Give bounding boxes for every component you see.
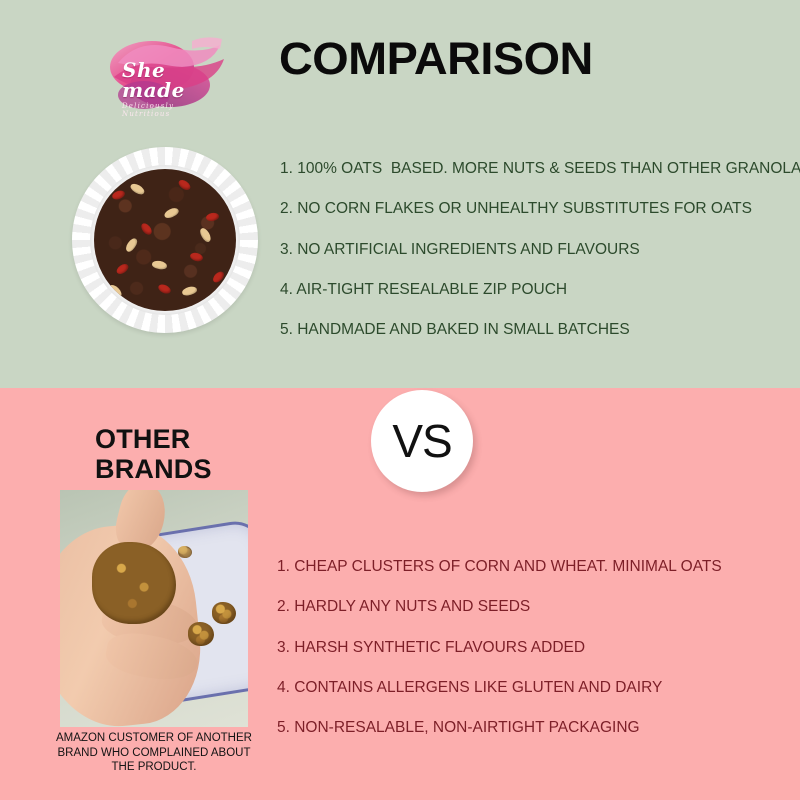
granola-cluster — [188, 622, 214, 646]
drawbacks-list: 1. CHEAP CLUSTERS OF CORN AND WHEAT. MIN… — [277, 558, 737, 760]
granola-cluster — [92, 542, 176, 624]
versus-badge: VS — [371, 390, 473, 492]
own-brand-panel: She made Deliciously Nutritious COMPARIS… — [0, 0, 800, 388]
other-brands-title-line1: OTHER — [95, 424, 212, 454]
page-title: COMPARISON — [279, 36, 593, 81]
brand-logo: She made Deliciously Nutritious — [108, 33, 230, 113]
photo-caption: AMAZON CUSTOMER OF ANOTHER BRAND WHO COM… — [48, 731, 260, 775]
product-image — [67, 142, 262, 338]
list-item: 2. HARDLY ANY NUTS AND SEEDS — [277, 598, 737, 616]
bowl-inner — [90, 165, 240, 315]
list-item: 1. CHEAP CLUSTERS OF CORN AND WHEAT. MIN… — [277, 558, 737, 576]
versus-label: VS — [392, 418, 451, 464]
granola-cluster — [178, 546, 192, 558]
granola-cluster — [212, 602, 236, 624]
list-item: 3. HARSH SYNTHETIC FLAVOURS ADDED — [277, 639, 737, 657]
granola-contents — [94, 169, 236, 311]
benefits-list: 1. 100% OATS BASED. MORE NUTS & SEEDS TH… — [280, 160, 785, 362]
list-item: 5. NON-RESALABLE, NON-AIRTIGHT PACKAGING — [277, 719, 737, 737]
list-item: 2. NO CORN FLAKES OR UNHEALTHY SUBSTITUT… — [280, 200, 785, 218]
list-item: 4. AIR-TIGHT RESEALABLE ZIP POUCH — [280, 281, 785, 299]
other-brands-title-line2: BRANDS — [95, 454, 212, 484]
comparison-infographic: She made Deliciously Nutritious COMPARIS… — [0, 0, 800, 800]
bowl-rim — [72, 147, 258, 333]
list-item: 1. 100% OATS BASED. MORE NUTS & SEEDS TH… — [280, 160, 785, 178]
customer-photo — [60, 490, 248, 727]
other-brands-title: OTHER BRANDS — [95, 424, 212, 484]
list-item: 5. HANDMADE AND BAKED IN SMALL BATCHES — [280, 321, 785, 339]
list-item: 3. NO ARTIFICIAL INGREDIENTS AND FLAVOUR… — [280, 241, 785, 259]
list-item: 4. CONTAINS ALLERGENS LIKE GLUTEN AND DA… — [277, 679, 737, 697]
logo-brush-icon — [108, 33, 230, 113]
